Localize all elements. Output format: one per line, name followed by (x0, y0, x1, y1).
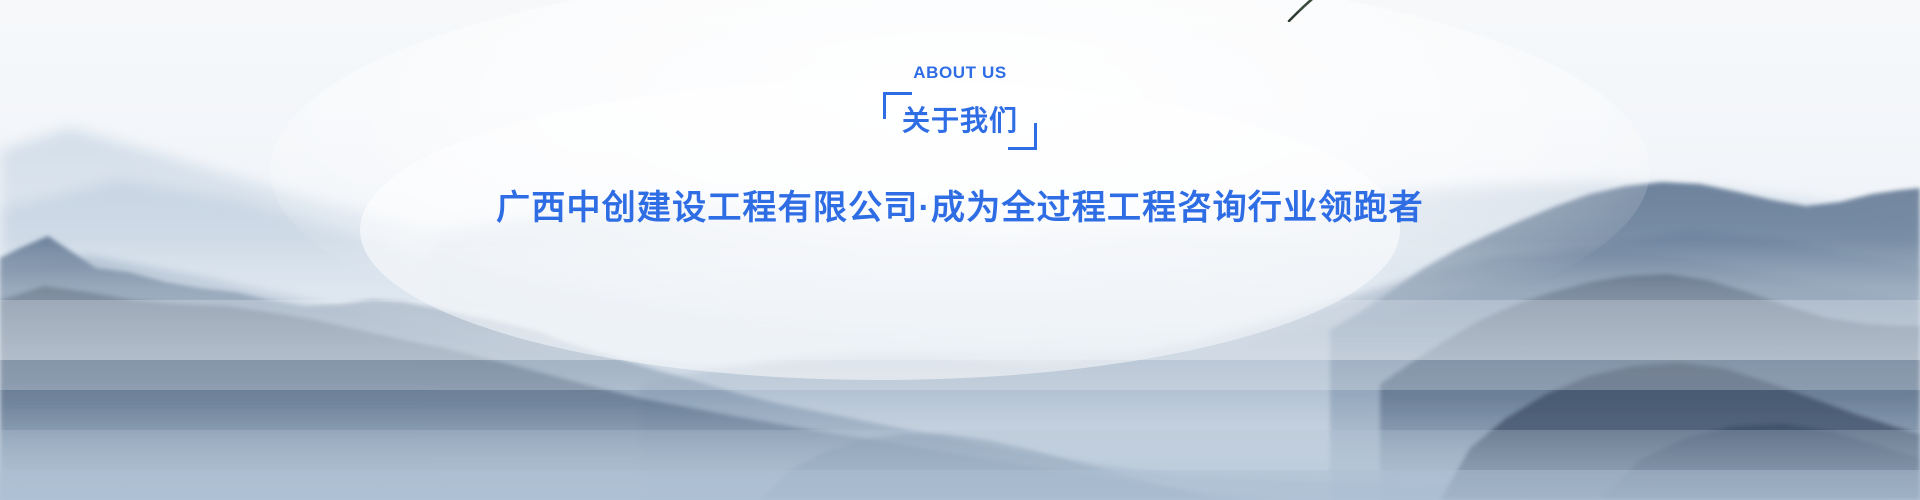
section-label-bracket: 关于我们 (883, 92, 1037, 150)
ink-brush-stroke-icon (1286, 0, 1320, 22)
about-us-banner: ABOUT US 关于我们 广西中创建设工程有限公司·成为全过程工程咨询行业领跑… (0, 0, 1920, 500)
page-title: 广西中创建设工程有限公司·成为全过程工程咨询行业领跑者 (496, 187, 1424, 230)
headline-block: ABOUT US 关于我们 广西中创建设工程有限公司·成为全过程工程咨询行业领跑… (0, 0, 1920, 500)
section-eyebrow: ABOUT US (883, 64, 1037, 81)
section-label: 关于我们 (883, 107, 1037, 135)
